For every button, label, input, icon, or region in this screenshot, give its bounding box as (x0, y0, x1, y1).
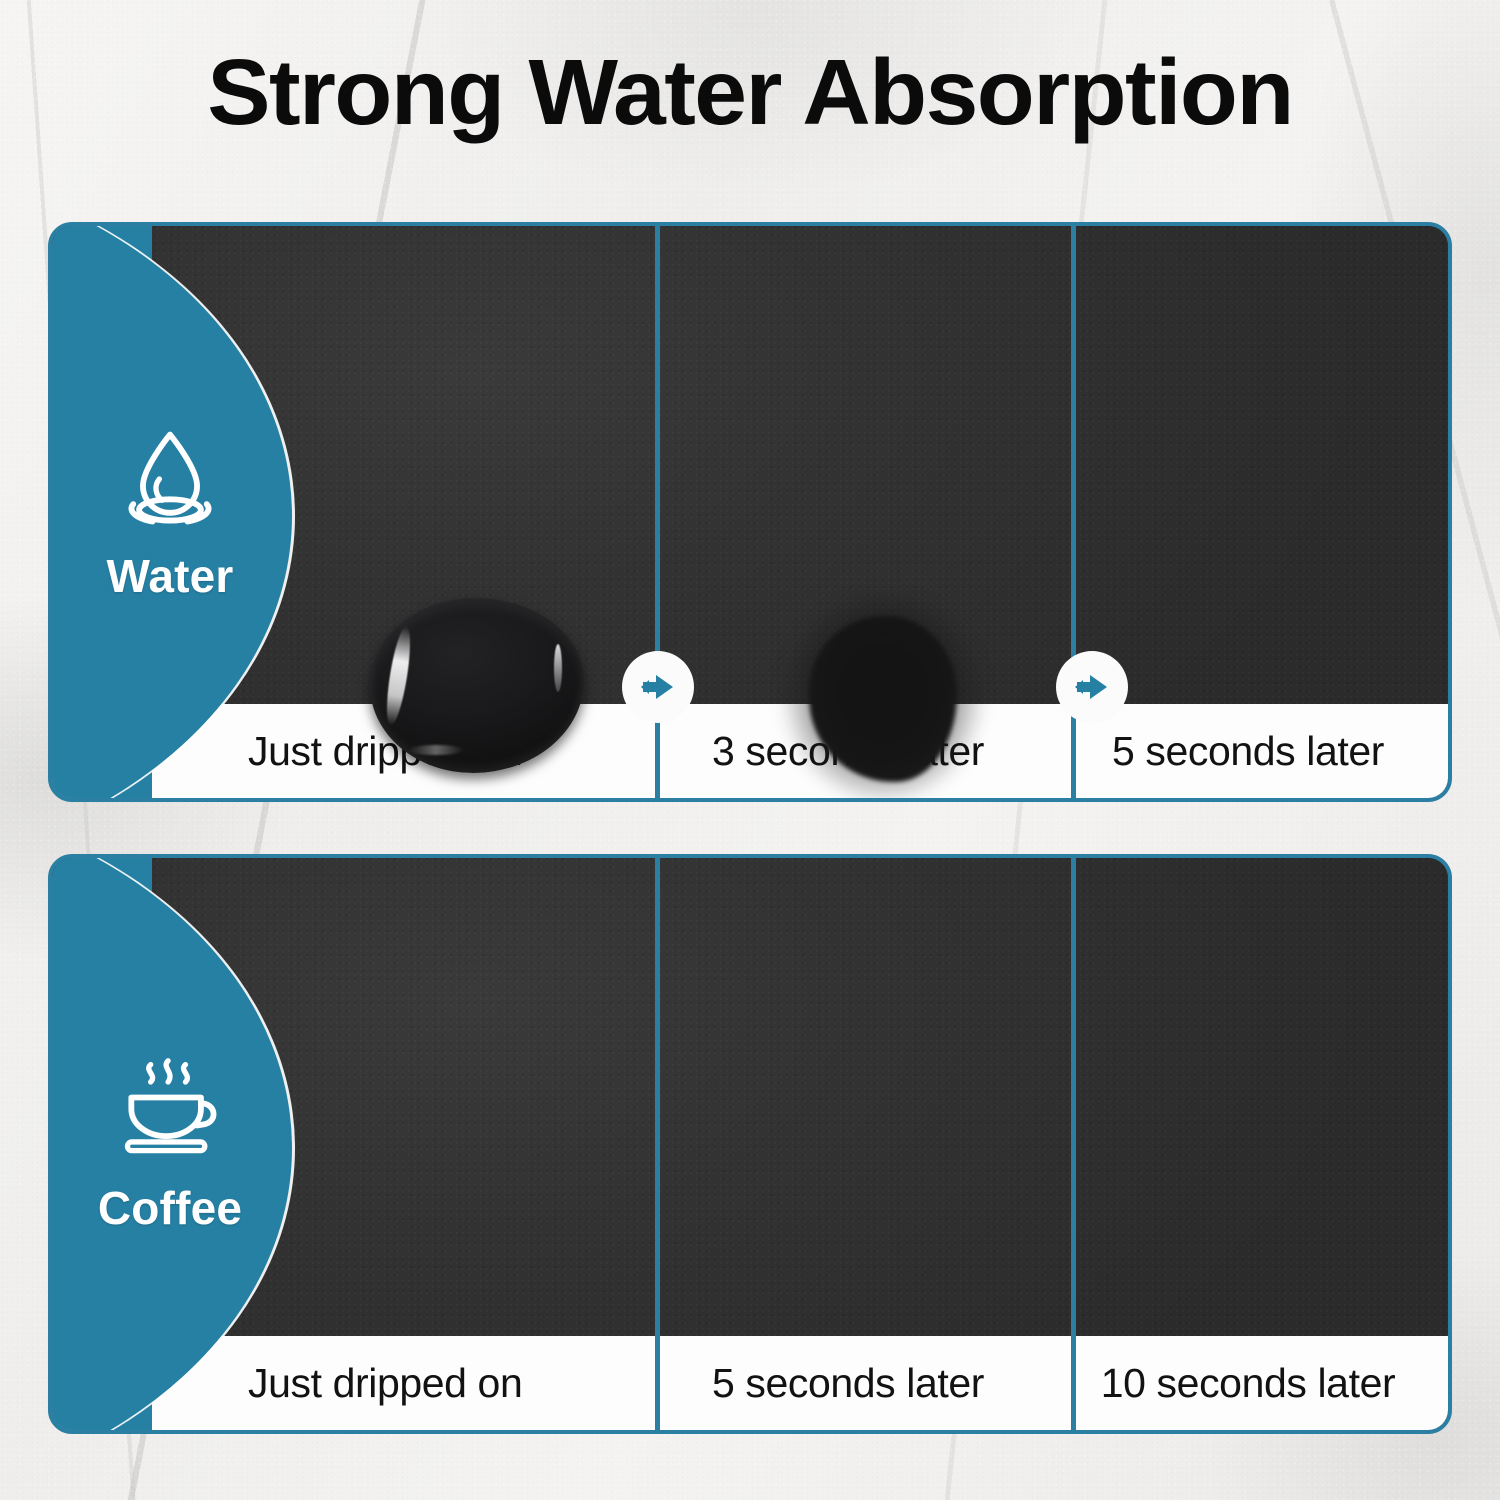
fast-forward-arrow-badge-1 (622, 651, 694, 723)
caption-coffee-stage-2: 5 seconds later (648, 1336, 1048, 1430)
water-label-panel: Water (52, 226, 288, 798)
stain-halo (781, 594, 985, 802)
panel-divider-2 (1071, 858, 1076, 1430)
caption-coffee-stage-3: 10 seconds later (1048, 1336, 1448, 1430)
coffee-absorption-card: Just dripped on 5 seconds later 10 secon… (48, 854, 1452, 1434)
coffee-cup-steam-icon (112, 1053, 228, 1169)
fast-forward-arrow-icon (1070, 665, 1114, 709)
specular-highlight (382, 625, 414, 726)
specular-highlight (408, 745, 464, 755)
panel-divider-1 (655, 858, 660, 1430)
partially-absorbed-water-stain (809, 616, 957, 782)
coffee-label-panel: Coffee (52, 858, 288, 1430)
page-title: Strong Water Absorption (0, 46, 1500, 139)
specular-highlight (554, 644, 562, 692)
coffee-label-text: Coffee (98, 1181, 242, 1235)
fast-forward-arrow-icon (636, 665, 680, 709)
fast-forward-arrow-badge-2 (1056, 651, 1128, 723)
water-label-text: Water (106, 549, 233, 603)
water-drop-ripple-icon (112, 421, 228, 537)
water-absorption-card: Just dripped on 3 seconds later 5 second… (48, 222, 1452, 802)
